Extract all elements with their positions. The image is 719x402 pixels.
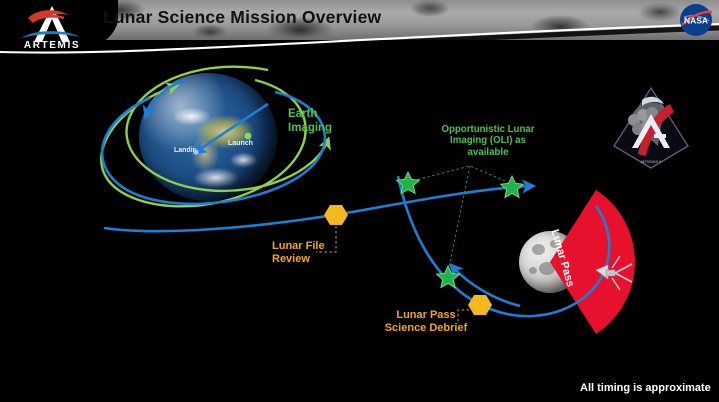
lunar-pass-science-debrief-label: Lunar Pass Science Debrief [368,309,484,335]
earth-imaging-orbit-group [101,67,328,207]
star-imaging-opportunity-marker [501,176,524,197]
trajectory-overlay [0,0,719,402]
outbound-leg [104,186,532,231]
footer-note: All timing is approximate [580,382,711,395]
landing-arrow [196,104,268,152]
landing-marker-dot [193,149,198,154]
translunar-trajectory-group [102,80,609,316]
oli-label: Opportunistic Lunar Imaging (OLI) as ava… [424,124,552,158]
slide-canvas: ARTEMIS Lunar Science Mission Overview N… [0,0,719,402]
orbit-arrow-upper-left [146,80,186,116]
earth-imaging-label: Earth Imaging [288,108,332,135]
lunar-file-review-label: Lunar File Review [272,240,325,266]
hexagon-milestone-marker [324,205,348,225]
earth-orbit-green-outer [101,80,305,206]
milestone-markers [316,205,492,322]
oli-leader-lines [408,166,512,272]
launch-marker-dot [245,133,252,140]
